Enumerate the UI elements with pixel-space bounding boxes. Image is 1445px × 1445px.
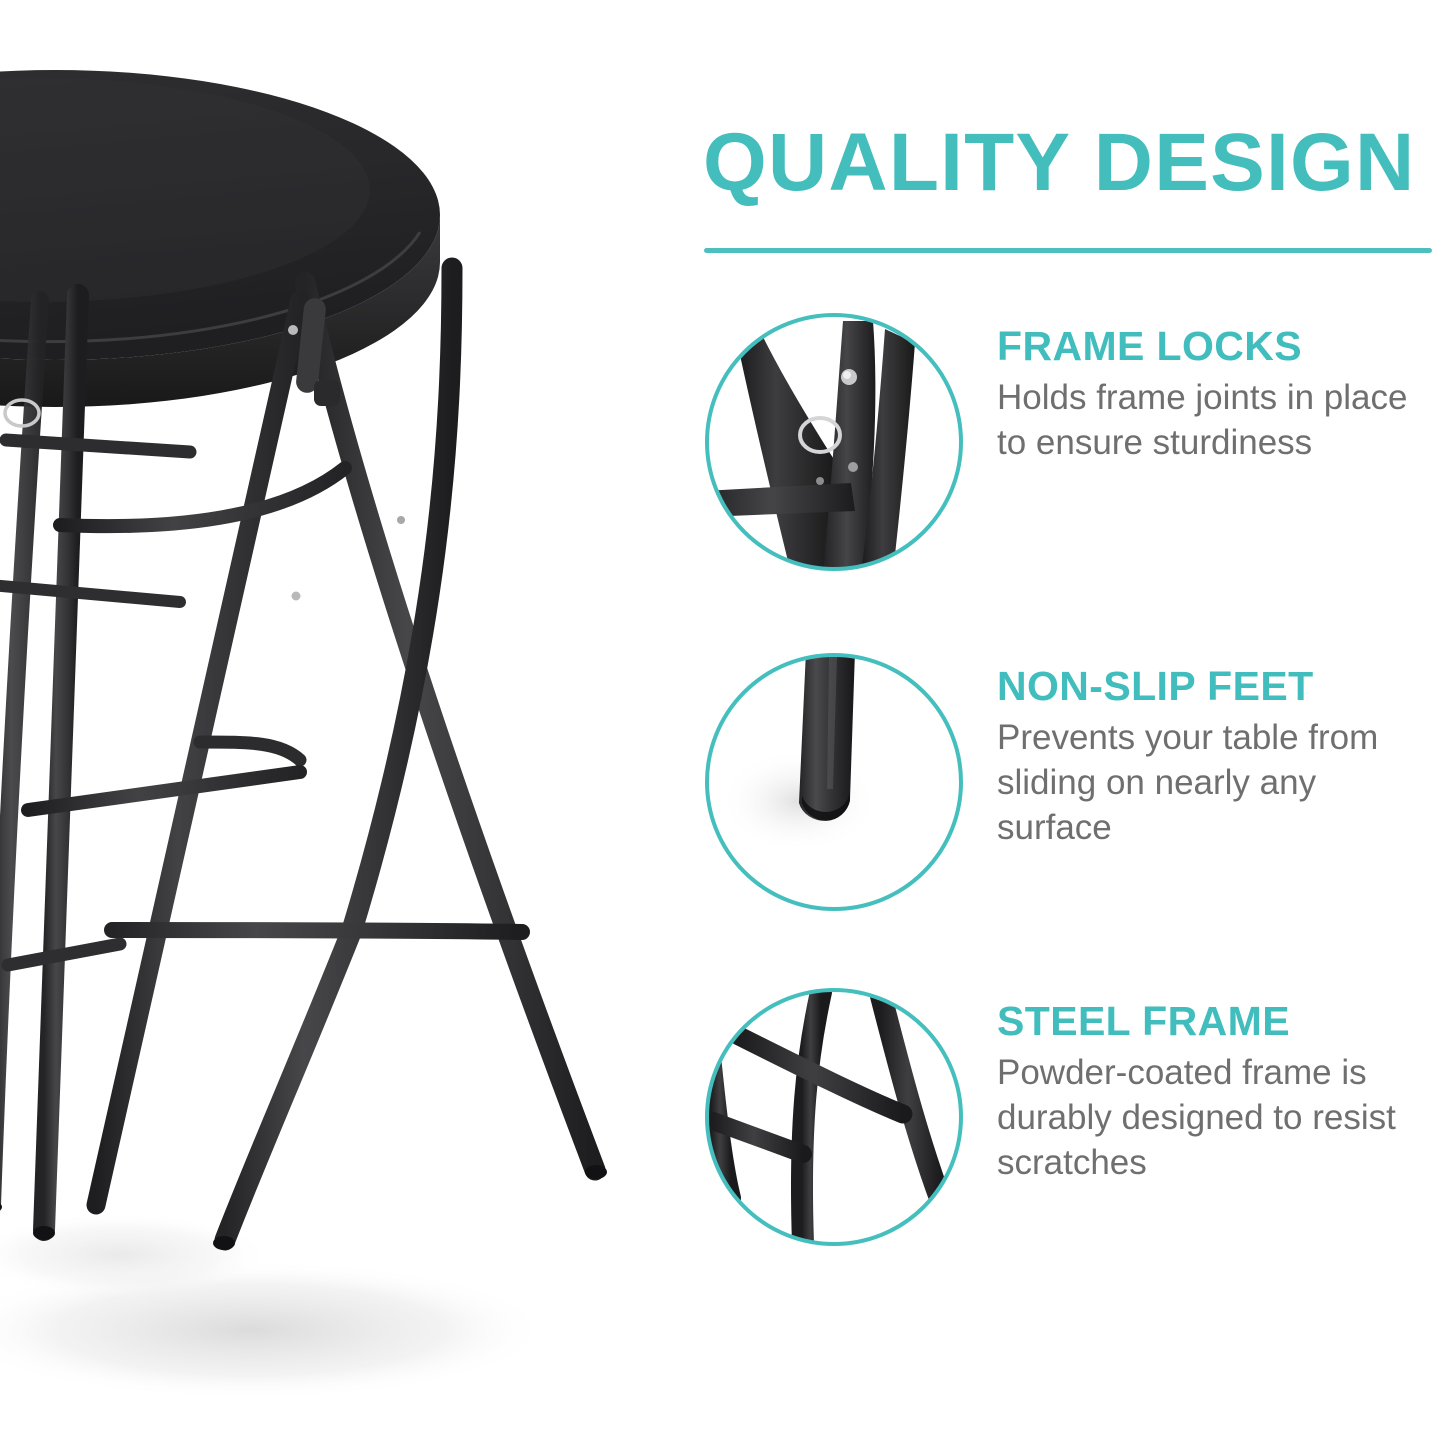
steel-frame-crossbar-closeup-icon	[703, 986, 965, 1248]
feature-description: Holds frame joints in place to ensure st…	[997, 376, 1437, 466]
info-pane: QUALITY DESIGN	[690, 0, 1445, 1445]
frame-joint-lock-closeup-icon	[703, 311, 965, 573]
page-title: QUALITY DESIGN	[703, 122, 1445, 204]
infographic-page: QUALITY DESIGN	[0, 0, 1445, 1445]
feature-description: Prevents your table from sliding on near…	[997, 716, 1437, 850]
table-frame	[0, 268, 595, 1240]
feature-title: NON-SLIP FEET	[997, 665, 1437, 708]
product-photo-illustration	[0, 0, 690, 1445]
product-photo	[0, 0, 690, 1445]
table-leg-foot-closeup-icon	[703, 651, 965, 913]
feature-title: FRAME LOCKS	[997, 325, 1437, 368]
feature-title: STEEL FRAME	[997, 1000, 1437, 1043]
title-divider	[704, 248, 1432, 253]
feature-text-non-slip-feet: NON-SLIP FEET Prevents your table from s…	[997, 665, 1437, 850]
feature-text-steel-frame: STEEL FRAME Powder-coated frame is durab…	[997, 1000, 1437, 1185]
feature-text-frame-locks: FRAME LOCKS Holds frame joints in place …	[997, 325, 1437, 466]
feature-description: Powder-coated frame is durably designed …	[997, 1051, 1437, 1185]
